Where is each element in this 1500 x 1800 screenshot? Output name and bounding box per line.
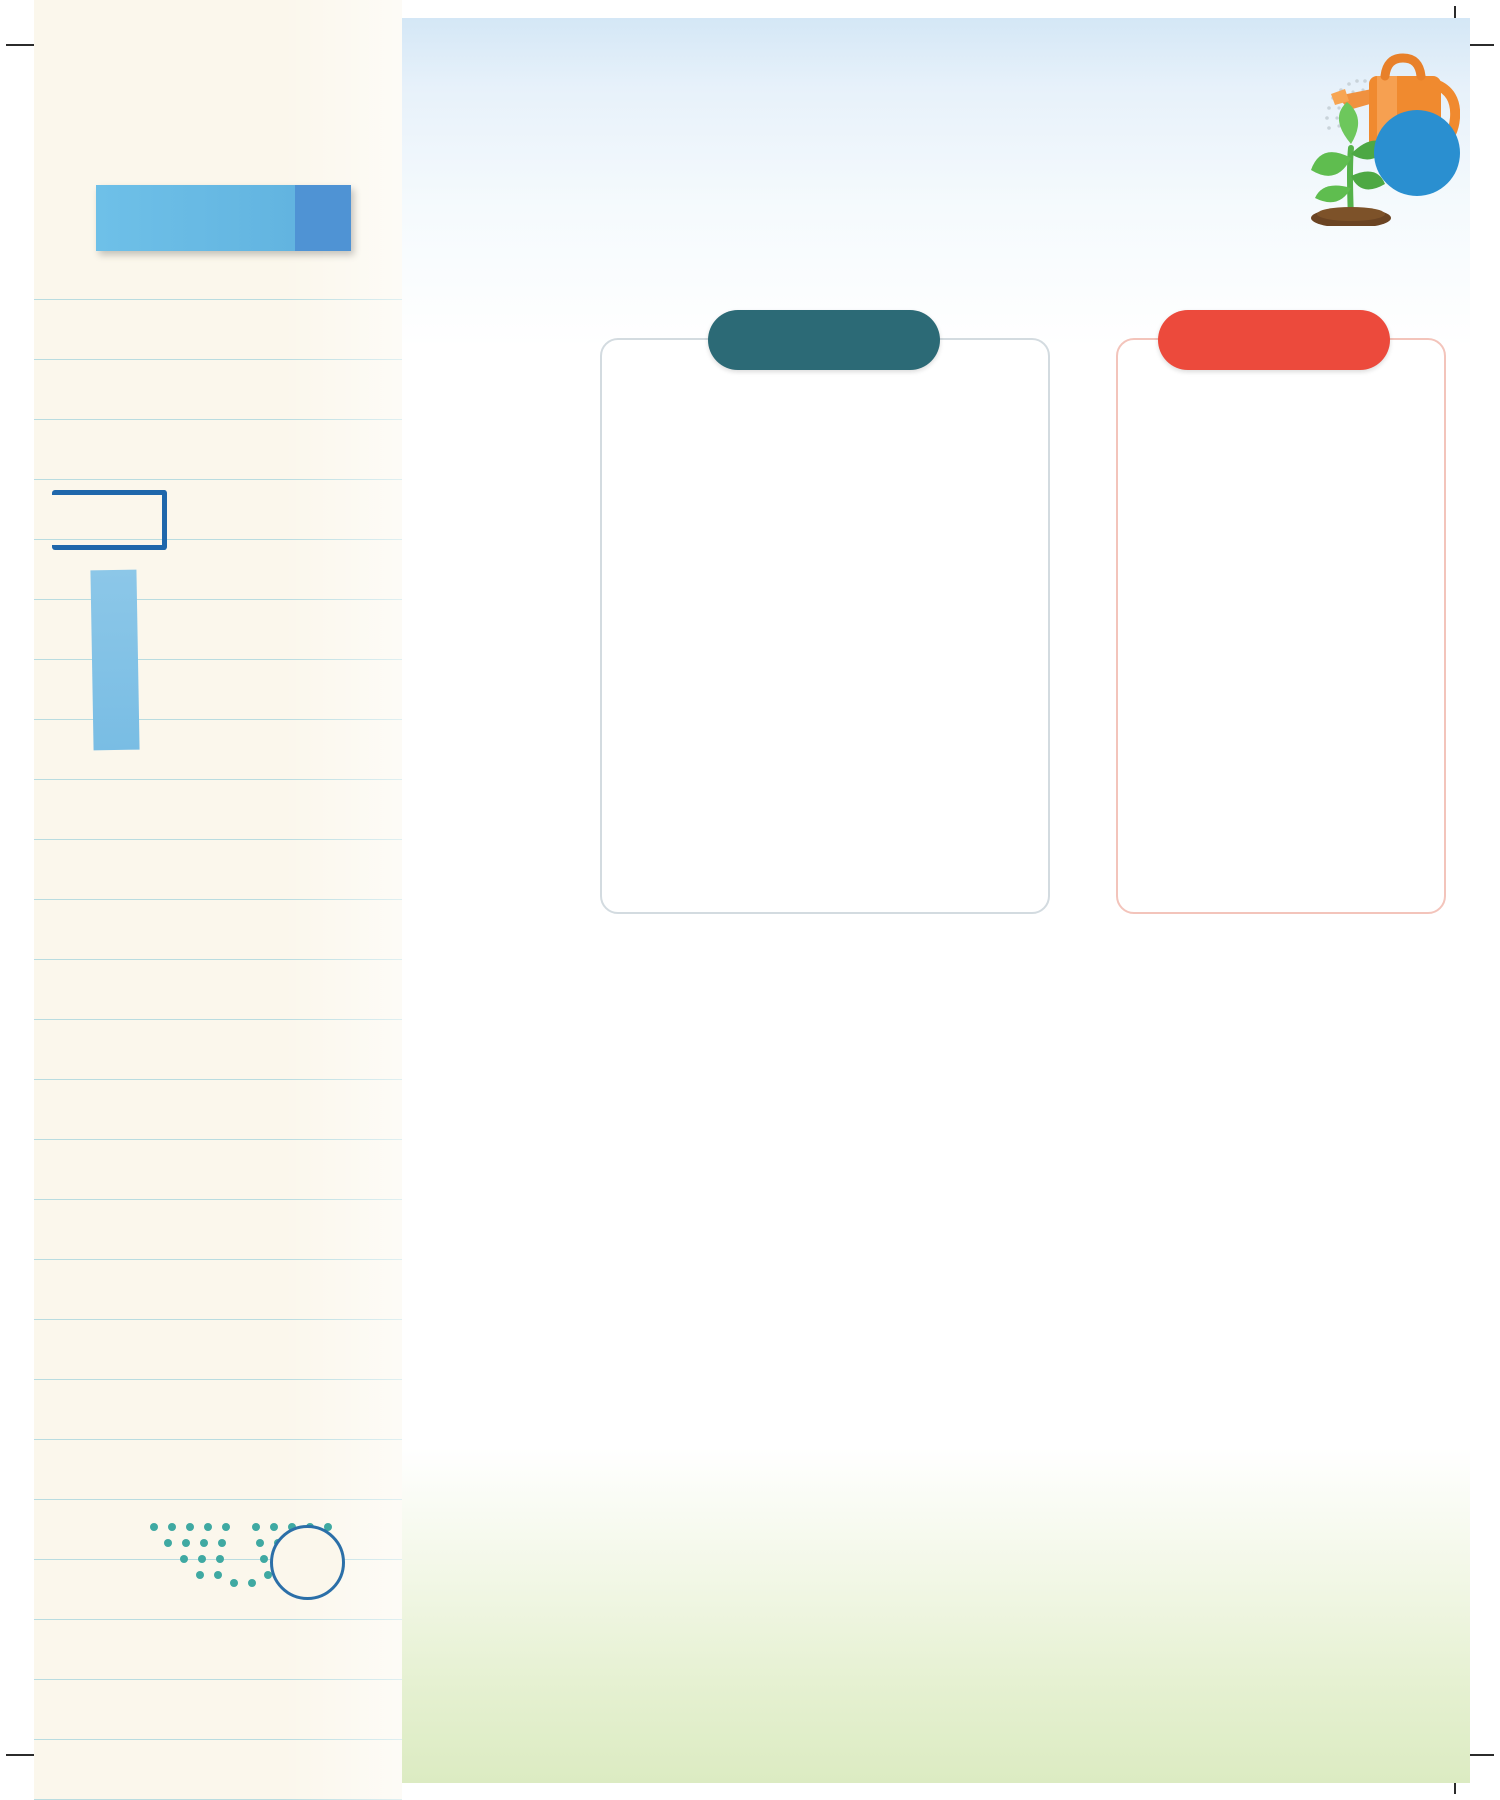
meanings-list (602, 388, 1048, 894)
unit-side-tab (90, 570, 139, 751)
words-panel (1116, 338, 1446, 914)
notes-panel (34, 0, 402, 1800)
meanings-header (708, 310, 940, 370)
words-header (1158, 310, 1390, 370)
unit-number-text (52, 490, 167, 550)
page-number (270, 1525, 345, 1600)
notes-tab (96, 185, 351, 251)
unit-number-badge (52, 490, 167, 550)
meanings-panel (600, 338, 1050, 914)
textbook-page (0, 0, 1500, 1800)
grow-my-language-badge (1374, 110, 1460, 196)
words-list (1118, 388, 1444, 894)
lesson-content (402, 18, 1470, 1783)
